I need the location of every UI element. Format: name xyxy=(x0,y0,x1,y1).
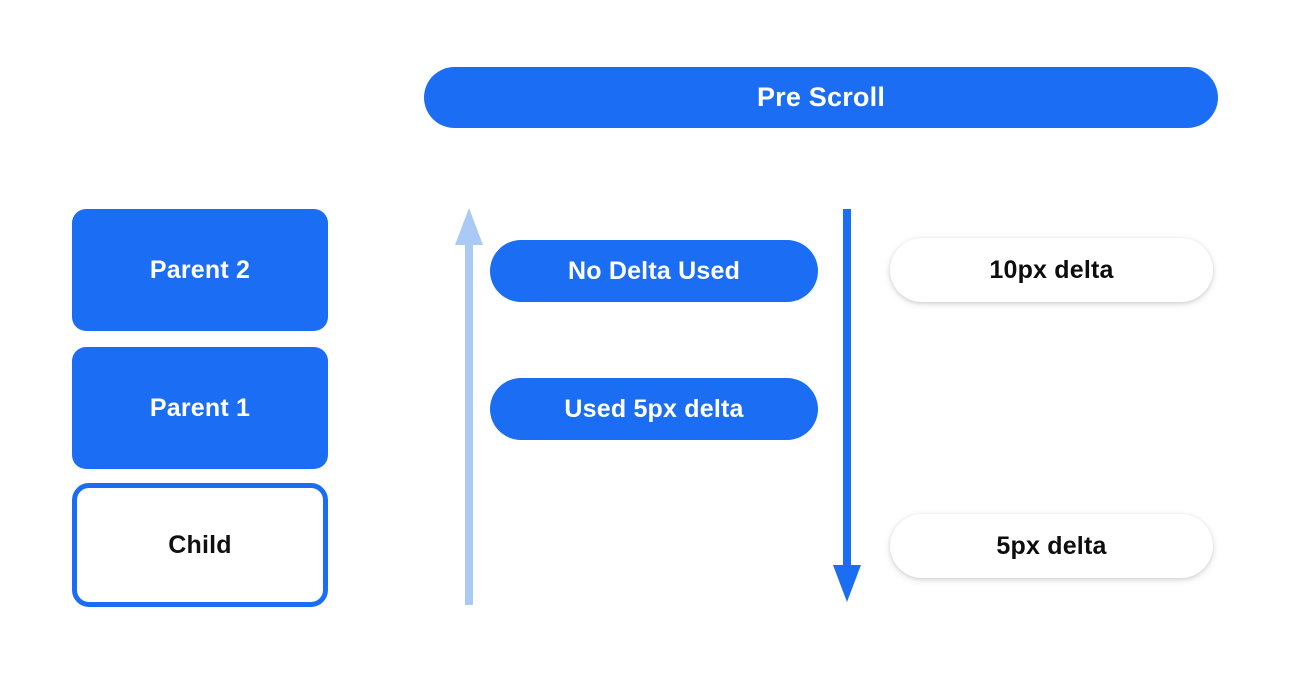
pill-no-delta-used: No Delta Used xyxy=(490,240,818,302)
pill-5px-delta: 5px delta xyxy=(890,514,1213,578)
node-parent-1-label: Parent 1 xyxy=(150,394,250,423)
arrow-down-icon xyxy=(827,205,867,605)
pill-10px-delta-label: 10px delta xyxy=(989,256,1113,285)
node-child-label: Child xyxy=(168,531,232,560)
diagram-canvas: Pre Scroll Parent 2 Parent 1 Child No De… xyxy=(0,0,1312,680)
pre-scroll-header-pill: Pre Scroll xyxy=(424,67,1218,128)
arrow-up-icon xyxy=(449,205,489,605)
node-parent-1: Parent 1 xyxy=(72,347,328,469)
pre-scroll-header-label: Pre Scroll xyxy=(757,84,885,111)
node-parent-2-label: Parent 2 xyxy=(150,256,250,285)
node-child: Child xyxy=(72,483,328,607)
pill-no-delta-used-label: No Delta Used xyxy=(568,257,740,286)
pill-used-5px-delta-label: Used 5px delta xyxy=(564,395,743,424)
pill-used-5px-delta: Used 5px delta xyxy=(490,378,818,440)
pill-5px-delta-label: 5px delta xyxy=(996,532,1106,561)
pill-10px-delta: 10px delta xyxy=(890,238,1213,302)
node-parent-2: Parent 2 xyxy=(72,209,328,331)
